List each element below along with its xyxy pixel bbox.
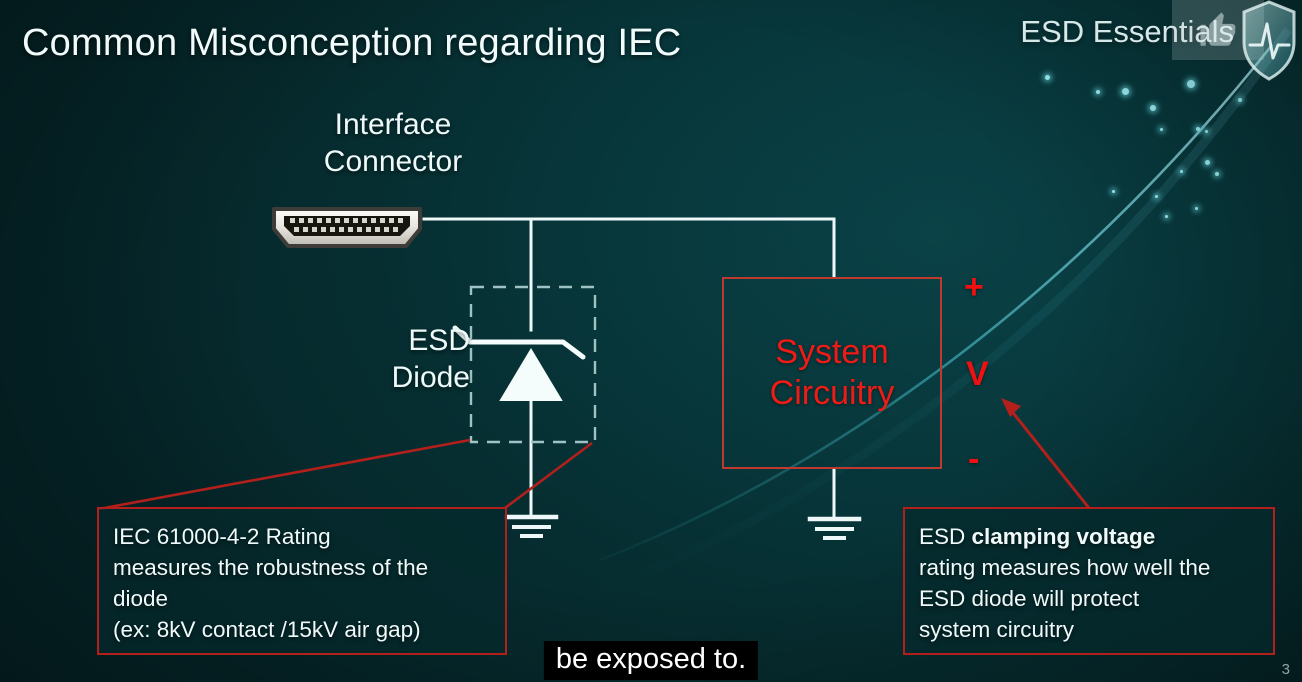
particle-dot	[1122, 88, 1129, 95]
esd-diode-label: ESD Diode	[330, 322, 470, 396]
esd-diode-boundary	[471, 287, 595, 442]
ground-symbol-icon	[507, 517, 556, 536]
callout-right-line-2: rating measures how well the	[919, 552, 1259, 583]
connector-label: Interface Connector	[268, 106, 518, 180]
leader-line-left-upper	[99, 440, 470, 509]
particle-dot	[1160, 128, 1163, 131]
callout-left-line-4: (ex: 8kV contact /15kV air gap)	[113, 614, 491, 645]
page-title: Common Misconception regarding IEC	[22, 22, 681, 65]
page-number: 3	[1282, 661, 1290, 678]
callout-left-line-3: diode	[113, 583, 491, 614]
voltage-marker-positive: +	[964, 268, 984, 307]
zener-diode-icon	[455, 328, 583, 400]
callout-right-line-3: ESD diode will protect	[919, 583, 1259, 614]
particle-dot	[1205, 130, 1208, 133]
callout-clamping-voltage: ESD clamping voltage rating measures how…	[903, 507, 1275, 655]
callout-right-prefix: ESD	[919, 524, 972, 549]
particle-dot	[1045, 75, 1050, 80]
voltage-marker-negative: -	[968, 440, 979, 479]
slide-canvas: Common Misconception regarding IEC ESD E…	[0, 0, 1302, 682]
particle-dot	[1155, 195, 1158, 198]
callout-right-line-1: ESD clamping voltage	[919, 521, 1259, 552]
system-circuitry-box: System Circuitry	[722, 277, 942, 469]
ground-symbol-icon	[810, 519, 859, 538]
voltage-marker-value: V	[966, 355, 989, 394]
shield-heartbeat-icon	[1240, 0, 1298, 82]
particle-dot	[1195, 207, 1198, 210]
particle-dot	[1205, 160, 1210, 165]
particle-dot	[1112, 190, 1115, 193]
particle-dot	[1215, 172, 1219, 176]
callout-right-line-4: system circuitry	[919, 614, 1259, 645]
particle-dot	[1096, 90, 1100, 94]
system-circuitry-label: System Circuitry	[770, 332, 895, 415]
particle-dot	[1187, 80, 1195, 88]
leader-line-left-lower	[505, 443, 592, 508]
callout-right-emphasis: clamping voltage	[972, 524, 1156, 549]
callout-left-line-2: measures the robustness of the	[113, 552, 491, 583]
video-caption: be exposed to.	[544, 641, 758, 680]
particle-dot	[1165, 215, 1168, 218]
particle-dot	[1238, 98, 1242, 102]
voltage-pointer-arrow	[1001, 398, 1089, 508]
particle-dot	[1150, 105, 1156, 111]
particle-dot	[1180, 170, 1183, 173]
callout-left-line-1: IEC 61000-4-2 Rating	[113, 521, 491, 552]
hdmi-connector-icon	[268, 205, 426, 250]
callout-iec-rating: IEC 61000-4-2 Rating measures the robust…	[97, 507, 507, 655]
particle-dot	[1196, 127, 1200, 131]
